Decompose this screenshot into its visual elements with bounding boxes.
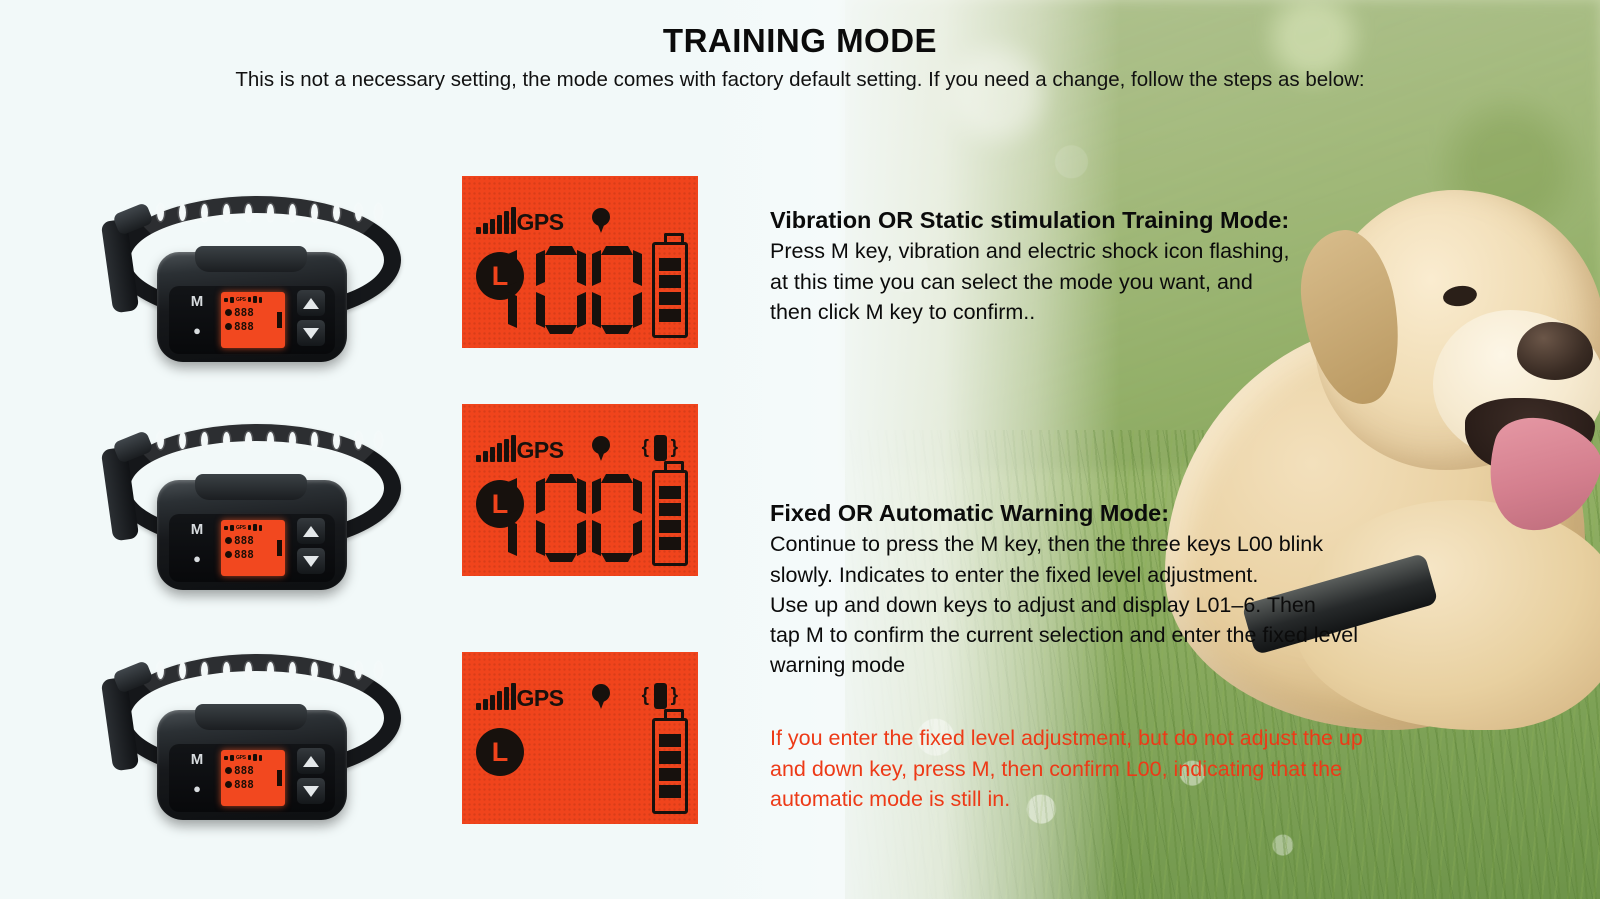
mini-screen-digits: 888 888: [225, 535, 281, 573]
device-m-button[interactable]: M: [183, 746, 211, 773]
battery-icon: [652, 242, 688, 338]
page-subtitle: This is not a necessary setting, the mod…: [0, 68, 1600, 92]
mini-screen-status-row: GPS: [224, 753, 282, 762]
step-1-line-1: Press M key, vibration and electric shoc…: [770, 236, 1289, 266]
lcd-status-row: GPS: [476, 200, 610, 234]
battery-icon: [652, 470, 688, 566]
segment-digit-0b: [592, 246, 642, 334]
level-badge: L: [476, 728, 524, 776]
device-pin-button[interactable]: ●: [183, 317, 211, 344]
location-pin-icon: [592, 684, 610, 710]
device-m-button[interactable]: M: [183, 288, 211, 315]
receiver-top-bracket: [195, 246, 307, 272]
device-up-button[interactable]: [297, 290, 325, 316]
step-2-text: Fixed OR Automatic Warning Mode: Continu…: [770, 498, 1358, 680]
mini-digit-row-1: 888: [234, 535, 254, 546]
device-mini-screen: GPS 888 888: [221, 750, 285, 806]
collar-device-1: M ● GPS 888 888: [95, 190, 415, 365]
step-1-text: Vibration OR Static stimulation Training…: [770, 205, 1289, 327]
mini-gps-label: GPS: [236, 297, 246, 303]
mini-battery-icon: [277, 770, 282, 786]
step-2-line-5: warning mode: [770, 650, 1358, 680]
device-down-button[interactable]: [297, 548, 325, 574]
receiver-front-face: M ● GPS 888 888: [169, 514, 335, 582]
segment-digit-0a: [536, 474, 586, 562]
segment-digit-0b: [592, 474, 642, 562]
warning-line-1: If you enter the fixed level adjustment,…: [770, 723, 1363, 754]
lcd-status-row: GPS { }: [476, 428, 678, 462]
mini-digit-row-2: 888: [234, 549, 254, 560]
vibration-icon: { }: [642, 434, 678, 462]
triangle-up-icon: [303, 756, 319, 767]
triangle-down-icon: [303, 786, 319, 797]
gps-label: GPS: [517, 212, 564, 234]
collar-device-3: M ● GPS 888 888: [95, 648, 415, 823]
receiver-top-bracket: [195, 704, 307, 730]
triangle-down-icon: [303, 328, 319, 339]
collar-receiver-unit: M ● GPS 888 888: [157, 252, 347, 362]
strap-holes: [135, 662, 381, 688]
step-2-line-3: Use up and down keys to adjust and displ…: [770, 590, 1358, 620]
mini-screen-status-row: GPS: [224, 295, 282, 304]
lcd-panel-3: GPS { } L: [462, 652, 698, 824]
triangle-up-icon: [303, 298, 319, 309]
mini-gps-label: GPS: [236, 525, 246, 531]
device-mini-screen: GPS 888 888: [221, 520, 285, 576]
warning-line-2: and down key, press M, then confirm L00,…: [770, 754, 1363, 785]
strap-holes: [135, 204, 381, 230]
warning-note: If you enter the fixed level adjustment,…: [770, 723, 1363, 815]
location-pin-icon: [592, 208, 610, 234]
battery-icon: [652, 718, 688, 814]
page-title: TRAINING MODE: [0, 22, 1600, 60]
segment-digit-L: [508, 246, 530, 334]
mini-digit-row-1: 888: [234, 765, 254, 776]
receiver-front-face: M ● GPS 888 888: [169, 286, 335, 354]
mini-battery-icon: [277, 540, 282, 556]
warning-line-3: automatic mode is still in.: [770, 784, 1363, 815]
mini-digit-row-1: 888: [234, 307, 254, 318]
strap-holes: [135, 432, 381, 458]
device-up-button[interactable]: [297, 518, 325, 544]
step-2-line-2: slowly. Indicates to enter the fixed lev…: [770, 560, 1358, 590]
triangle-down-icon: [303, 556, 319, 567]
signal-bars-icon: [476, 210, 516, 234]
collar-device-2: M ● GPS 888 888: [95, 418, 415, 593]
collar-receiver-unit: M ● GPS 888 888: [157, 710, 347, 820]
step-1-line-3: then click M key to confirm..: [770, 297, 1289, 327]
signal-bars-icon: [476, 438, 516, 462]
device-up-button[interactable]: [297, 748, 325, 774]
triangle-up-icon: [303, 526, 319, 537]
device-down-button[interactable]: [297, 778, 325, 804]
lcd-panel-2: GPS { } L: [462, 404, 698, 576]
mini-screen-status-row: GPS: [224, 523, 282, 532]
mini-gps-label: GPS: [236, 755, 246, 761]
device-mini-screen: GPS 888 888: [221, 292, 285, 348]
device-m-button[interactable]: M: [183, 516, 211, 543]
gps-label: GPS: [517, 440, 564, 462]
lcd-panel-1: GPS L: [462, 176, 698, 348]
step-1-line-2: at this time you can select the mode you…: [770, 267, 1289, 297]
mini-screen-digits: 888 888: [225, 765, 281, 803]
receiver-front-face: M ● GPS 888 888: [169, 744, 335, 812]
lcd-status-row: GPS { }: [476, 676, 678, 710]
device-pin-button[interactable]: ●: [183, 775, 211, 802]
seven-segment-digits: [508, 474, 642, 562]
signal-bars-icon: [476, 686, 516, 710]
device-pin-button[interactable]: ●: [183, 545, 211, 572]
segment-digit-0a: [536, 246, 586, 334]
step-1-heading: Vibration OR Static stimulation Training…: [770, 205, 1289, 236]
step-2-line-1: Continue to press the M key, then the th…: [770, 529, 1358, 559]
mini-screen-digits: 888 888: [225, 307, 281, 345]
vibration-icon: { }: [642, 682, 678, 710]
device-down-button[interactable]: [297, 320, 325, 346]
seven-segment-digits: [508, 246, 642, 334]
receiver-top-bracket: [195, 474, 307, 500]
mini-battery-icon: [277, 312, 282, 328]
mini-digit-row-2: 888: [234, 779, 254, 790]
segment-digit-L: [508, 474, 530, 562]
mini-digit-row-2: 888: [234, 321, 254, 332]
collar-receiver-unit: M ● GPS 888 888: [157, 480, 347, 590]
step-2-line-4: tap M to confirm the current selection a…: [770, 620, 1358, 650]
location-pin-icon: [592, 436, 610, 462]
gps-label: GPS: [517, 688, 564, 710]
infographic-content: TRAINING MODE This is not a necessary se…: [0, 0, 1600, 899]
step-2-heading: Fixed OR Automatic Warning Mode:: [770, 498, 1358, 529]
